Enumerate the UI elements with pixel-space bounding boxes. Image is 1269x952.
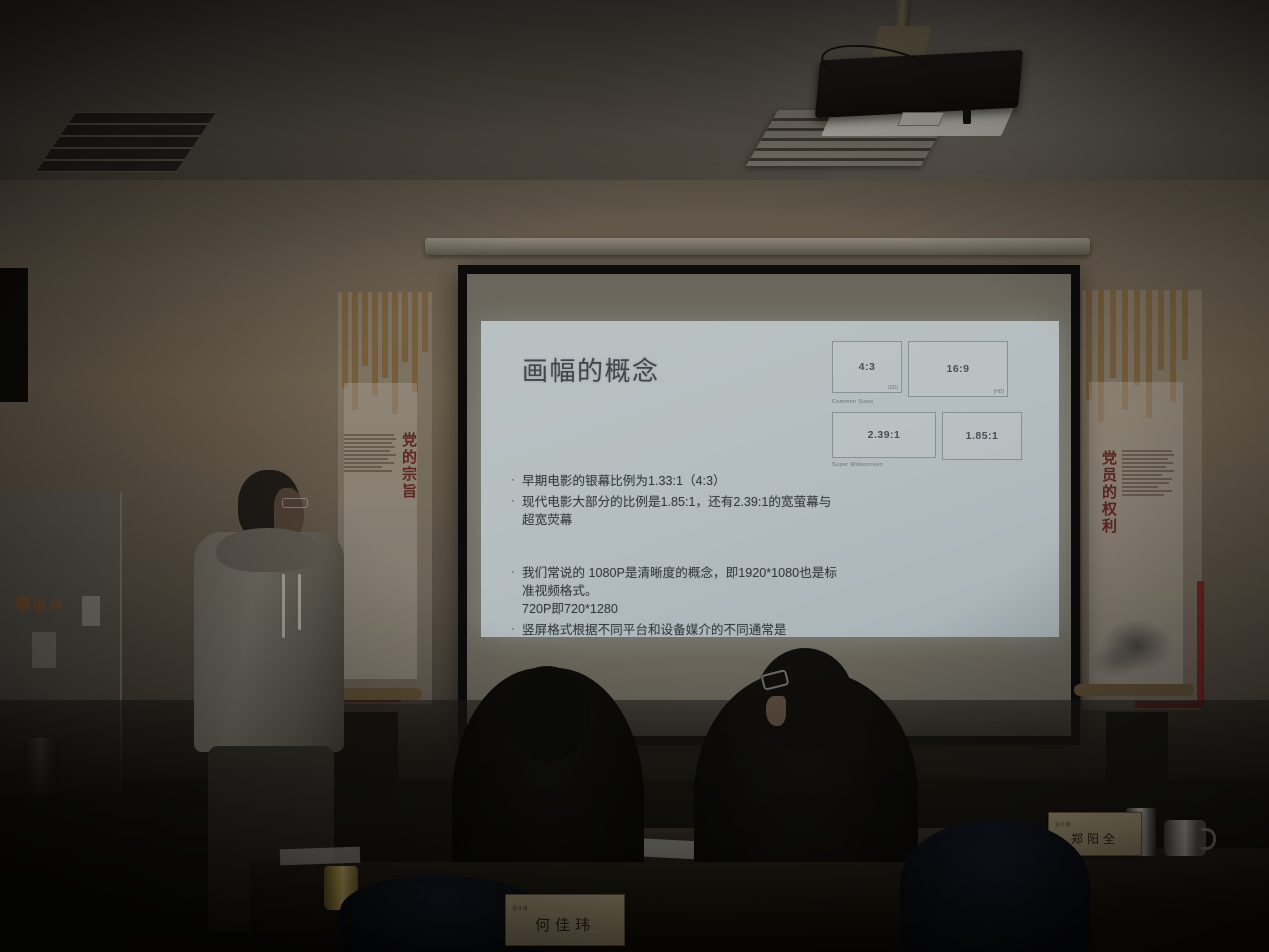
presenter-hood — [216, 528, 320, 572]
bullet-text: 早期电影的银幕比例为1.33:1（4:3） — [522, 473, 841, 491]
classroom-presentation-photo: 党的宗旨 党员的权利 画幅的概念 — [0, 0, 1269, 952]
whiteboard-card — [82, 596, 100, 626]
aspect-box-1-85-1: 1.85:1 — [942, 412, 1022, 460]
common-sizes-row: 4:3 (SD) 16:9 (HD) — [832, 341, 1045, 397]
poster-right-title: 党员的权利 — [1098, 450, 1119, 535]
name-card: 设计组 何佳玮 — [505, 894, 625, 946]
hoodie-drawstring — [298, 574, 301, 630]
hoodie-drawstring — [282, 574, 285, 638]
list-item: · 现代电影大部分的比例是1.85:1，还有2.39:1的宽萤幕与超宽荧幕 — [511, 494, 841, 530]
wall-poster-right: 党员的权利 — [1082, 290, 1202, 710]
name-card-name: 何佳玮 — [535, 914, 595, 935]
aspect-corner-label: (SD) — [888, 385, 898, 391]
projector-label-sticker — [897, 112, 945, 126]
aspect-ratio-label: 16:9 — [946, 363, 969, 375]
aspect-ratio-diagram: 4:3 (SD) 16:9 (HD) Common Sizes 2.39:1 — [832, 341, 1045, 475]
super-widescreen-caption: Super Widescreen — [832, 462, 1045, 468]
poster-left-title: 党的宗旨 — [398, 432, 419, 500]
slide-title: 画幅的概念 — [522, 351, 660, 388]
slide-bullets-lower: · 我们常说的 1080P是清晰度的概念，即1920*1080也是标准视频格式。… — [511, 565, 841, 637]
slide-bullets-upper: · 早期电影的银幕比例为1.33:1（4:3） · 现代电影大部分的比例是1.8… — [511, 473, 841, 533]
bullet-text: 现代电影大部分的比例是1.85:1，还有2.39:1的宽萤幕与超宽荧幕 — [522, 494, 841, 530]
list-item: · 我们常说的 1080P是清晰度的概念，即1920*1080也是标准视频格式。… — [511, 565, 841, 619]
presentation-slide: 画幅的概念 4:3 (SD) 16:9 (HD) Common Sizes — [481, 321, 1059, 637]
list-item: · 早期电影的银幕比例为1.33:1（4:3） — [511, 473, 841, 491]
projector-foot — [963, 108, 971, 124]
audience-2-face — [766, 696, 786, 726]
bullet-marker-icon: · — [511, 622, 522, 637]
aspect-box-16-9: 16:9 (HD) — [908, 341, 1008, 397]
whiteboard-note — [32, 632, 56, 668]
bullet-marker-icon: · — [511, 565, 522, 619]
aspect-corner-label: (HD) — [993, 389, 1004, 395]
list-item: · 竖屏格式根据不同平台和设备媒介的不同通常是1080*1920或者 1080*… — [511, 622, 841, 637]
paper-sheet — [280, 847, 361, 866]
poster-left-body-text — [344, 434, 396, 472]
aspect-box-2-39-1: 2.39:1 — [832, 412, 936, 458]
wall-handrail-right — [1074, 684, 1194, 696]
aspect-ratio-label: 1.85:1 — [966, 430, 999, 442]
bullet-marker-icon: · — [511, 473, 522, 491]
bullet-text: 我们常说的 1080P是清晰度的概念，即1920*1080也是标准视频格式。 7… — [522, 565, 841, 619]
aspect-ratio-label: 2.39:1 — [868, 429, 901, 441]
projection-screen-roller — [425, 238, 1090, 255]
audience-1-head — [504, 666, 590, 762]
name-card-org: 设计组 — [512, 905, 528, 912]
name-card-name: 郑阳全 — [1071, 830, 1119, 847]
wall-mounted-box — [0, 268, 28, 402]
glasses-icon — [282, 498, 308, 508]
aspect-ratio-label: 4:3 — [859, 361, 876, 373]
steel-teapot — [1164, 820, 1206, 856]
super-widescreen-row: 2.39:1 1.85:1 — [832, 412, 1045, 460]
bullet-marker-icon: · — [511, 494, 522, 530]
whiteboard-magnets — [12, 592, 70, 614]
poster-right-body-text — [1122, 450, 1174, 496]
audience-member-3 — [900, 820, 1090, 952]
aspect-box-4-3: 4:3 (SD) — [832, 341, 902, 393]
name-card-org: 设计组 — [1055, 821, 1071, 828]
bullet-text: 竖屏格式根据不同平台和设备媒介的不同通常是1080*1920或者 1080*20… — [522, 622, 841, 637]
common-sizes-caption: Common Sizes — [832, 399, 1045, 405]
